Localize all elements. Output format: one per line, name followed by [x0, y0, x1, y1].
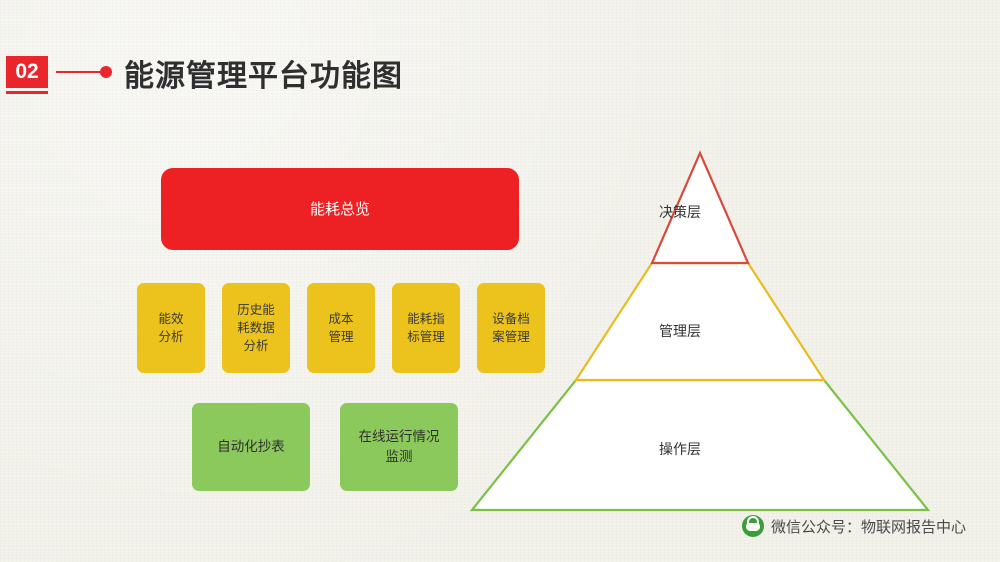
- block-label-line1: 在线运行情况: [359, 429, 440, 444]
- function-block-cost-management[interactable]: 成本 管理: [307, 283, 375, 373]
- block-label-line1: 历史能: [237, 303, 275, 317]
- block-label-line3: 分析: [243, 339, 268, 353]
- block-label-line2: 耗数据: [237, 321, 275, 335]
- block-label-lines: 成本 管理: [328, 310, 353, 346]
- pyramid-label-management: 管理层: [659, 321, 701, 341]
- header-connector-dot: [100, 66, 112, 78]
- function-block-automatic-meter-reading[interactable]: 自动化抄表: [192, 403, 310, 491]
- function-blocks-tier3: 自动化抄表 在线运行情况 监测: [192, 403, 462, 491]
- block-label-line1: 自动化抄表: [217, 437, 285, 457]
- block-label-line2: 监测: [386, 449, 413, 464]
- block-label-line1: 成本: [328, 312, 353, 326]
- block-label-lines: 在线运行情况 监测: [359, 427, 440, 468]
- block-label-lines: 历史能 耗数据 分析: [237, 301, 275, 355]
- section-number-badge: 02: [6, 56, 48, 88]
- block-label-lines: 能效 分析: [158, 310, 183, 346]
- block-label-line1: 能效: [158, 312, 183, 326]
- function-block-energy-efficiency-analysis[interactable]: 能效 分析: [137, 283, 205, 373]
- pyramid-label-operations: 操作层: [659, 439, 701, 459]
- watermark-text: 微信公众号：物联网报告中心: [771, 516, 966, 537]
- block-label-lines: 能耗指 标管理: [407, 310, 445, 346]
- function-block-overview-label: 能耗总览: [310, 199, 370, 220]
- block-label-line2: 管理: [328, 330, 353, 344]
- badge-underline: [6, 91, 48, 94]
- header-connector-line: [56, 71, 102, 73]
- block-label-line2: 分析: [158, 330, 183, 344]
- watermark: 微信公众号：物联网报告中心: [742, 515, 966, 537]
- function-block-historical-energy-data-analysis[interactable]: 历史能 耗数据 分析: [222, 283, 290, 373]
- wechat-icon: [742, 515, 764, 537]
- page-header: 02 能源管理平台功能图: [0, 26, 1000, 78]
- function-block-online-operation-monitoring[interactable]: 在线运行情况 监测: [340, 403, 458, 491]
- page-title: 能源管理平台功能图: [124, 51, 403, 95]
- block-label-line1: 能耗指: [407, 312, 445, 326]
- pyramid-label-decision: 决策层: [659, 202, 701, 222]
- pyramid-diagram: 决策层 管理层 操作层: [455, 135, 945, 525]
- function-block-energy-indicator-management[interactable]: 能耗指 标管理: [392, 283, 460, 373]
- block-label-line2: 标管理: [407, 330, 445, 344]
